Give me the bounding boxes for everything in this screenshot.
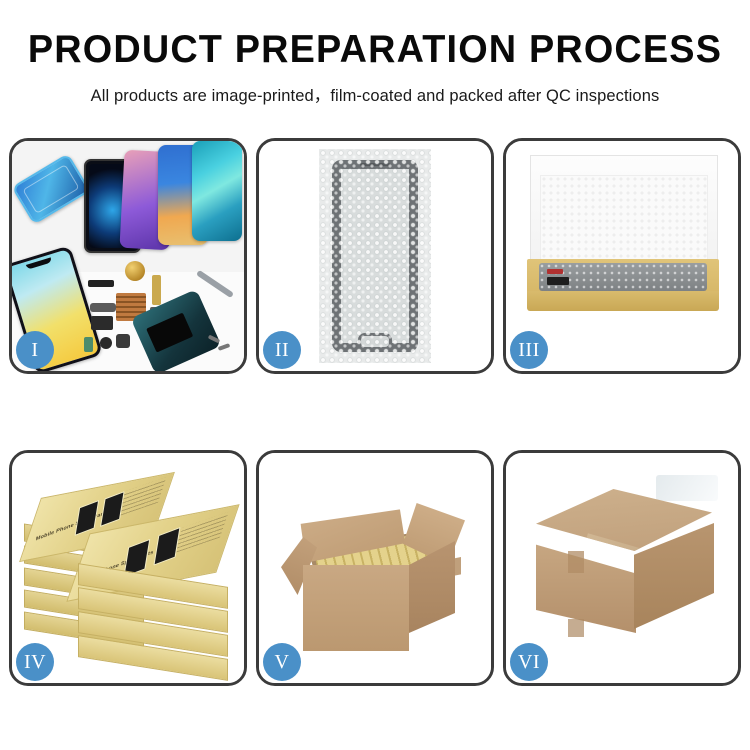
flex-cable-part-a [90, 303, 116, 312]
speaker-coil-part [125, 261, 145, 281]
step-panel-5: V [256, 450, 494, 686]
red-label-sticker [547, 269, 563, 274]
step-panel-4: Mobile Phone Spare Parts Mobile Phone Sp… [9, 450, 247, 686]
carton-handle-slot-bottom [568, 619, 584, 637]
step-badge-2: II [263, 331, 301, 369]
carton-front-face [303, 565, 409, 651]
flex-cable-part-b [91, 316, 113, 330]
phone-screen-teal [192, 141, 242, 241]
plastic-wrap-corner [656, 475, 718, 501]
flex-cable-part-c [152, 275, 161, 305]
bubble-wrap-sheet [319, 149, 431, 363]
step-panel-2: II [256, 138, 494, 374]
box-print-phone-1 [75, 500, 100, 536]
connector-part [84, 337, 93, 352]
step-badge-6: VI [510, 643, 548, 681]
camera-module-part [100, 337, 112, 349]
black-label-sticker [547, 277, 569, 285]
step-badge-5: V [263, 643, 301, 681]
front-camera-icon [360, 163, 390, 166]
wrapped-screen-in-box [539, 263, 707, 291]
phone-notch-icon [102, 164, 123, 169]
retail-box-stack: Mobile Phone Spare Parts Mobile Phone Sp… [20, 471, 236, 667]
vibration-motor-part [116, 334, 130, 348]
process-steps-grid: I II [0, 138, 750, 680]
phone-notch-icon [26, 257, 52, 269]
earpiece-bar-part [88, 280, 114, 287]
page-subtitle: All products are image-printed，film-coat… [0, 82, 750, 106]
box-print-phone-2 [153, 527, 180, 566]
step-badge-3: III [510, 331, 548, 369]
step-panel-1: I [9, 138, 247, 374]
step-panel-6: VI [503, 450, 741, 686]
page-title: PRODUCT PREPARATION PROCESS [11, 30, 739, 71]
step-panel-3: III [503, 138, 741, 374]
step-badge-1: I [16, 331, 54, 369]
screen-glass-panel [332, 160, 418, 352]
sealed-carton-left-face [536, 537, 636, 633]
screwdriver-part-b [218, 343, 231, 351]
step-badge-4: IV [16, 643, 54, 681]
tweezers-tool-icon [196, 270, 234, 298]
box-print-phone-2 [100, 491, 125, 527]
header: PRODUCT PREPARATION PROCESS All products… [0, 0, 750, 106]
carton-handle-slot-top [568, 551, 584, 573]
product-preparation-infographic: PRODUCT PREPARATION PROCESS All products… [0, 0, 750, 750]
kraft-box-front [527, 291, 719, 311]
box-print-lines [173, 512, 228, 554]
foam-padding [540, 175, 708, 263]
